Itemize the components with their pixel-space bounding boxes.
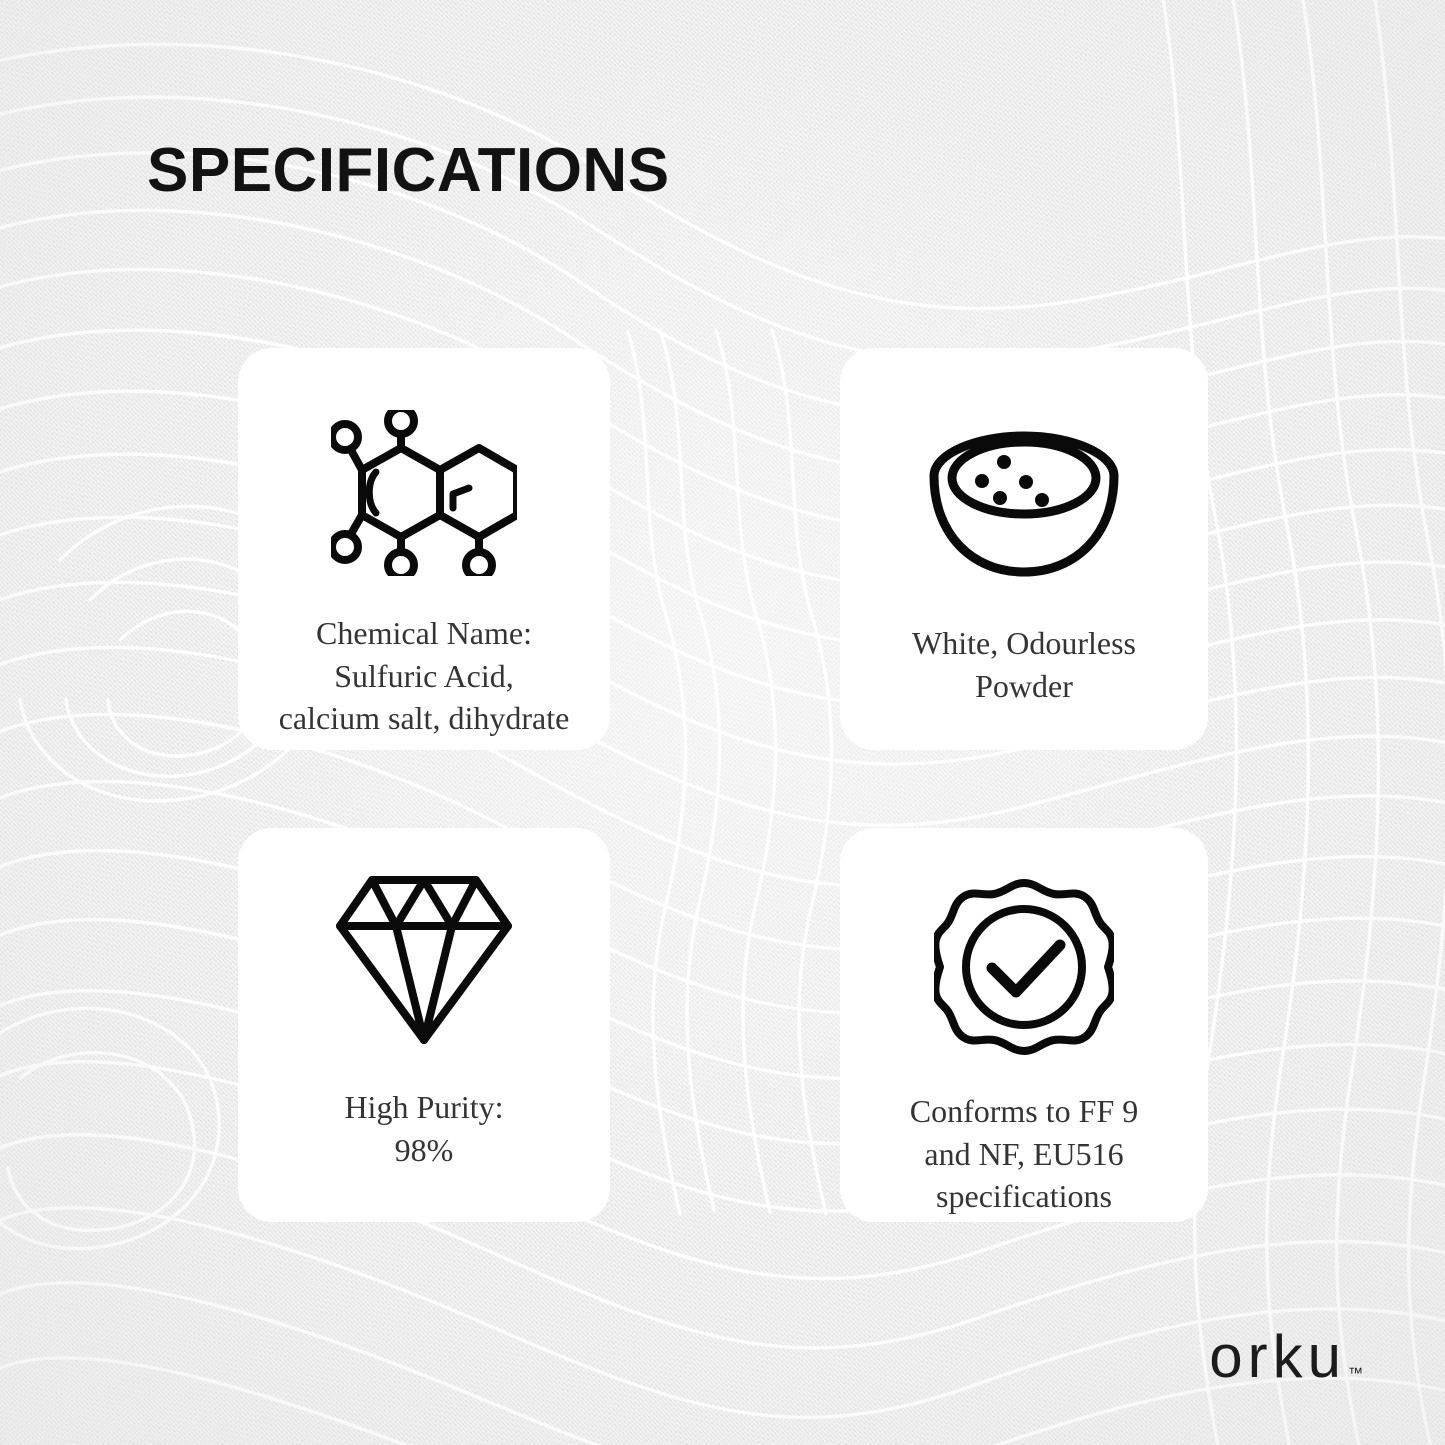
certified-badge-icon bbox=[934, 878, 1114, 1056]
caption-line: High Purity: bbox=[252, 1086, 596, 1129]
specifications-infographic: SPECIFICATIONS bbox=[0, 0, 1445, 1445]
spec-caption: Chemical Name: Sulfuric Acid, calcium sa… bbox=[238, 612, 610, 740]
caption-line: White, Odourless bbox=[854, 622, 1194, 665]
caption-line: Sulfuric Acid, bbox=[252, 655, 596, 698]
topographic-contour-pattern bbox=[0, 0, 1445, 1445]
caption-line: Powder bbox=[854, 665, 1194, 708]
caption-line: calcium salt, dihydrate bbox=[252, 697, 596, 740]
spec-card-appearance: White, Odourless Powder bbox=[840, 348, 1208, 750]
spec-card-chemical-name: Chemical Name: Sulfuric Acid, calcium sa… bbox=[238, 348, 610, 750]
brand-logo: orku ™ bbox=[1209, 1327, 1363, 1387]
caption-line: 98% bbox=[252, 1129, 596, 1172]
page-title: SPECIFICATIONS bbox=[147, 138, 670, 203]
spec-card-purity: High Purity: 98% bbox=[238, 828, 610, 1222]
trademark-symbol: ™ bbox=[1348, 1366, 1363, 1381]
powder-bowl-icon bbox=[926, 426, 1122, 578]
caption-line: Chemical Name: bbox=[252, 612, 596, 655]
diamond-icon bbox=[334, 874, 514, 1046]
logo-wordmark: orku bbox=[1209, 1327, 1346, 1387]
spec-caption: Conforms to FF 9 and NF, EU516 specifica… bbox=[840, 1090, 1208, 1218]
caption-line: specifications bbox=[854, 1175, 1194, 1218]
spec-caption: High Purity: 98% bbox=[238, 1086, 610, 1171]
caption-line: Conforms to FF 9 bbox=[854, 1090, 1194, 1133]
caption-line: and NF, EU516 bbox=[854, 1133, 1194, 1176]
molecule-icon bbox=[331, 410, 517, 576]
spec-card-compliance: Conforms to FF 9 and NF, EU516 specifica… bbox=[840, 828, 1208, 1222]
spec-caption: White, Odourless Powder bbox=[840, 622, 1208, 707]
